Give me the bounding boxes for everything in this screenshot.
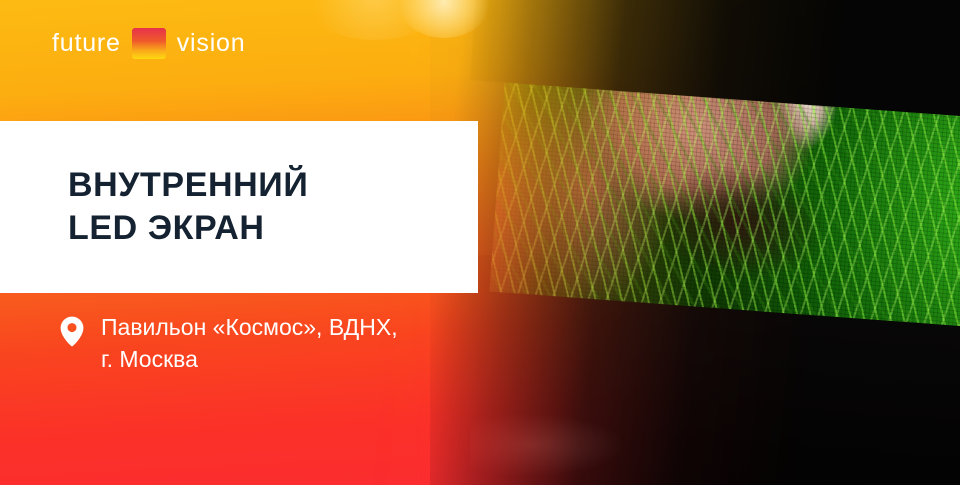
logo-word-vision: vision <box>177 31 246 56</box>
logo-word-future: future <box>52 31 121 56</box>
location-text: Павильон «Космос», ВДНХ, г. Москва <box>101 312 398 375</box>
page-title-line-1: ВНУТРЕННИЙ <box>68 164 478 207</box>
location-line-2: г. Москва <box>101 344 398 376</box>
gradient-square-mark <box>132 28 166 59</box>
page-title-line-2: LED ЭКРАН <box>68 207 478 250</box>
brand-logo[interactable]: future vision <box>52 28 245 59</box>
location-block: Павильон «Космос», ВДНХ, г. Москва <box>60 312 398 375</box>
promo-banner: MYSTERY E future vision ВНУТРЕННИЙ LED Э… <box>0 0 960 485</box>
title-panel: ВНУТРЕННИЙ LED ЭКРАН <box>0 121 478 293</box>
map-pin-icon <box>60 316 84 352</box>
location-line-1: Павильон «Космос», ВДНХ, <box>101 312 398 344</box>
